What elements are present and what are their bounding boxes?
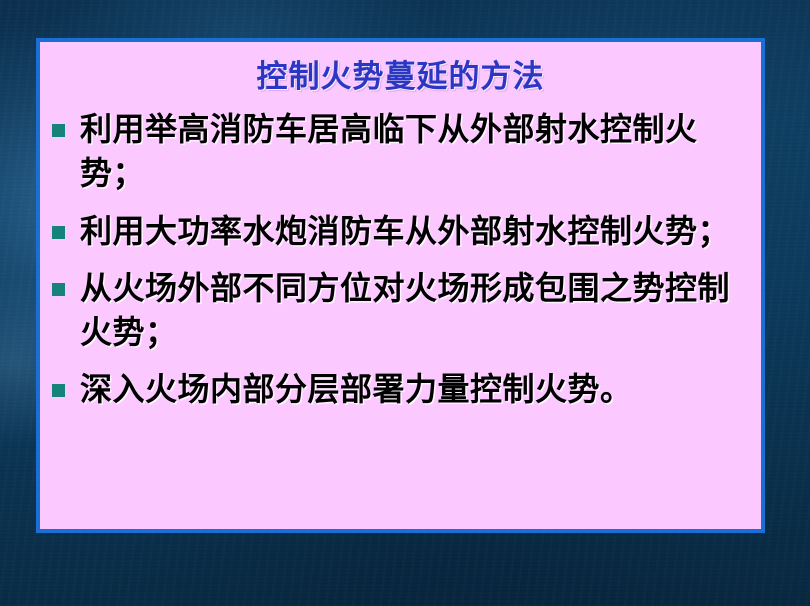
slide-content-panel: 控制火势蔓延的方法 利用举高消防车居高临下从外部射水控制火势； 利用大功率水炮消… <box>36 38 765 533</box>
list-item: 深入火场内部分层部署力量控制火势。 <box>50 367 745 411</box>
list-item: 从火场外部不同方位对火场形成包围之势控制火势； <box>50 266 745 354</box>
bullet-text: 利用大功率水炮消防车从外部射水控制火势； <box>80 209 745 253</box>
square-bullet-icon <box>52 283 65 296</box>
bullet-text: 深入火场内部分层部署力量控制火势。 <box>80 367 745 411</box>
slide-title: 控制火势蔓延的方法 <box>40 58 761 95</box>
square-bullet-icon <box>52 124 65 137</box>
list-item: 利用举高消防车居高临下从外部射水控制火势； <box>50 107 745 195</box>
square-bullet-icon <box>52 384 65 397</box>
presentation-slide: 控制火势蔓延的方法 利用举高消防车居高临下从外部射水控制火势； 利用大功率水炮消… <box>0 0 810 606</box>
bullet-text: 从火场外部不同方位对火场形成包围之势控制火势； <box>80 266 745 354</box>
list-item: 利用大功率水炮消防车从外部射水控制火势； <box>50 209 745 253</box>
bullet-text: 利用举高消防车居高临下从外部射水控制火势； <box>80 107 745 195</box>
bullet-list: 利用举高消防车居高临下从外部射水控制火势； 利用大功率水炮消防车从外部射水控制火… <box>40 107 761 411</box>
square-bullet-icon <box>52 226 65 239</box>
